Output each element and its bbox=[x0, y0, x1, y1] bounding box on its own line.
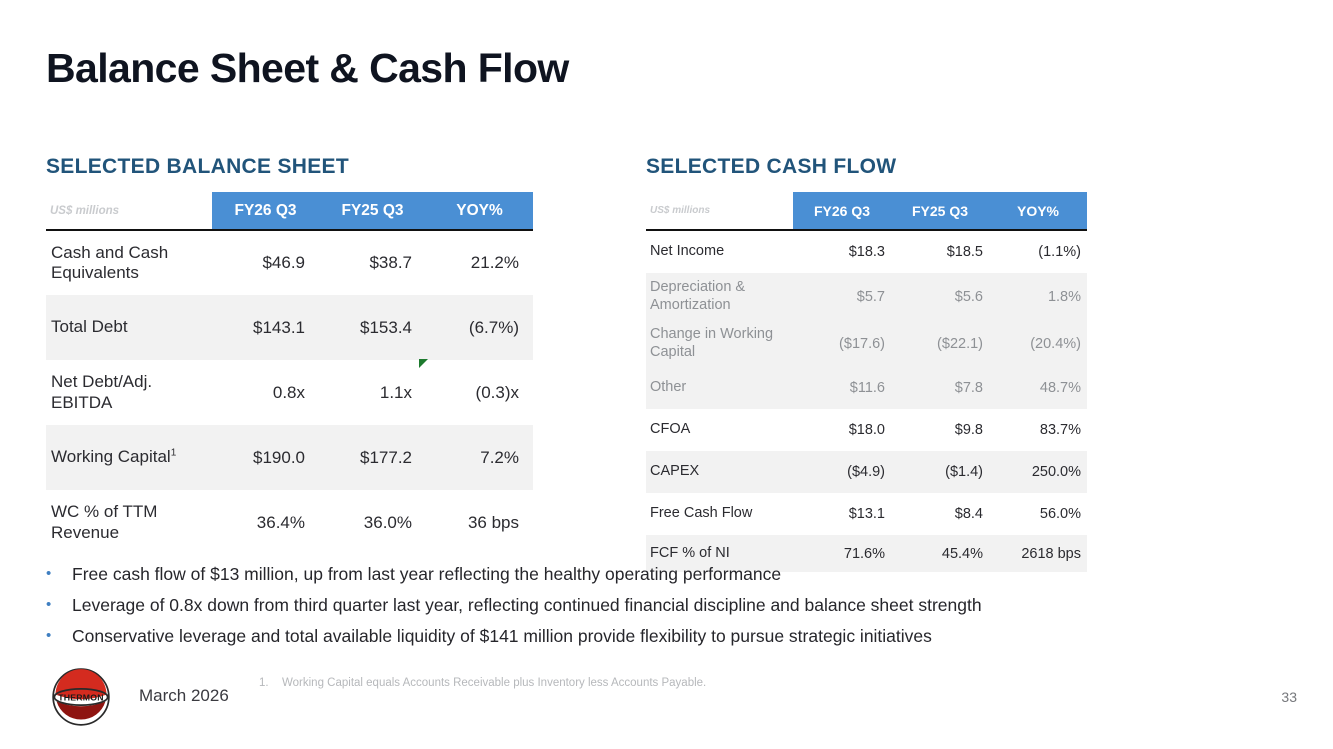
row-value-fy25q3: 1.1x bbox=[319, 360, 426, 425]
table-row: Total Debt $143.1 $153.4 (6.7%) bbox=[46, 295, 533, 360]
row-value-yoy: (0.3)x bbox=[426, 360, 533, 425]
footnote-marker: 1 bbox=[171, 448, 177, 459]
cash-flow-heading: SELECTED CASH FLOW bbox=[646, 155, 896, 179]
row-value-fy26q3: $11.6 bbox=[793, 367, 891, 409]
column-header-yoy: YOY% bbox=[989, 192, 1087, 230]
row-label: Net Debt/Adj. EBITDA bbox=[46, 360, 212, 425]
bullet-list: • Free cash flow of $13 million, up from… bbox=[44, 563, 1284, 656]
row-value-fy26q3: 36.4% bbox=[212, 490, 319, 555]
units-label: US$ millions bbox=[646, 192, 793, 230]
table-row: WC % of TTM Revenue 36.4% 36.0% 36 bps bbox=[46, 490, 533, 555]
row-value-fy26q3: $18.0 bbox=[793, 409, 891, 451]
bullet-text: Conservative leverage and total availabl… bbox=[72, 625, 932, 647]
row-value-fy25q3: ($1.4) bbox=[891, 451, 989, 493]
row-label: Working Capital1 bbox=[46, 425, 212, 490]
row-value-fy26q3: ($17.6) bbox=[793, 320, 891, 367]
balance-sheet-heading: SELECTED BALANCE SHEET bbox=[46, 155, 349, 179]
table-row: Working Capital1 $190.0 $177.2 7.2% bbox=[46, 425, 533, 490]
row-label: Free Cash Flow bbox=[646, 493, 793, 535]
row-value-fy25q3: ($22.1) bbox=[891, 320, 989, 367]
table-row: Depreciation & Amortization $5.7 $5.6 1.… bbox=[646, 273, 1087, 320]
row-value-yoy: 7.2% bbox=[426, 425, 533, 490]
list-item: • Free cash flow of $13 million, up from… bbox=[44, 563, 1284, 585]
row-value-yoy: 36 bps bbox=[426, 490, 533, 555]
footer-date: March 2026 bbox=[139, 686, 229, 706]
row-value-fy26q3: $190.0 bbox=[212, 425, 319, 490]
row-value-fy25q3: 36.0% bbox=[319, 490, 426, 555]
row-value-yoy: 21.2% bbox=[426, 230, 533, 295]
balance-sheet-table: US$ millions FY26 Q3 FY25 Q3 YOY% Cash a… bbox=[46, 192, 533, 555]
table-header-row: US$ millions FY26 Q3 FY25 Q3 YOY% bbox=[46, 192, 533, 230]
bullet-dot-icon: • bbox=[44, 594, 72, 616]
cash-flow-table: US$ millions FY26 Q3 FY25 Q3 YOY% Net In… bbox=[646, 192, 1087, 572]
page-number: 33 bbox=[1281, 689, 1297, 705]
row-value-yoy: 250.0% bbox=[989, 451, 1087, 493]
row-value-fy25q3: $153.4 bbox=[319, 295, 426, 360]
row-label: Depreciation & Amortization bbox=[646, 273, 793, 320]
bullet-text: Leverage of 0.8x down from third quarter… bbox=[72, 594, 982, 616]
bullet-dot-icon: • bbox=[44, 563, 72, 585]
row-value-yoy: 1.8% bbox=[989, 273, 1087, 320]
row-label: Change in Working Capital bbox=[646, 320, 793, 367]
footnote-number: 1. bbox=[259, 677, 282, 689]
table-row: Change in Working Capital ($17.6) ($22.1… bbox=[646, 320, 1087, 367]
row-value-yoy: 83.7% bbox=[989, 409, 1087, 451]
row-value-yoy: (6.7%) bbox=[426, 295, 533, 360]
row-value-fy25q3: $7.8 bbox=[891, 367, 989, 409]
row-value-fy26q3: $46.9 bbox=[212, 230, 319, 295]
thermon-wordmark: THERMON bbox=[58, 692, 104, 702]
footnote-text: Working Capital equals Accounts Receivab… bbox=[282, 677, 706, 689]
table-row: CAPEX ($4.9) ($1.4) 250.0% bbox=[646, 451, 1087, 493]
thermon-logo-icon: THERMON bbox=[52, 668, 110, 726]
row-value-fy25q3: $5.6 bbox=[891, 273, 989, 320]
row-value-fy26q3: $143.1 bbox=[212, 295, 319, 360]
row-value-yoy: (20.4%) bbox=[989, 320, 1087, 367]
column-header-fy26q3: FY26 Q3 bbox=[793, 192, 891, 230]
row-value-fy25q3: $9.8 bbox=[891, 409, 989, 451]
column-header-fy25q3: FY25 Q3 bbox=[319, 192, 426, 230]
row-label: Total Debt bbox=[46, 295, 212, 360]
column-header-fy26q3: FY26 Q3 bbox=[212, 192, 319, 230]
row-value-fy26q3: $18.3 bbox=[793, 230, 891, 273]
row-value-fy25q3: $177.2 bbox=[319, 425, 426, 490]
column-header-fy25q3: FY25 Q3 bbox=[891, 192, 989, 230]
table-row: Free Cash Flow $13.1 $8.4 56.0% bbox=[646, 493, 1087, 535]
row-value-fy25q3: $8.4 bbox=[891, 493, 989, 535]
row-label: CAPEX bbox=[646, 451, 793, 493]
table-row: Net Debt/Adj. EBITDA 0.8x 1.1x (0.3)x bbox=[46, 360, 533, 425]
row-value-fy25q3: $38.7 bbox=[319, 230, 426, 295]
row-label: Net Income bbox=[646, 230, 793, 273]
row-label: Other bbox=[646, 367, 793, 409]
row-label: Cash and Cash Equivalents bbox=[46, 230, 212, 295]
list-item: • Leverage of 0.8x down from third quart… bbox=[44, 594, 1284, 616]
row-label: WC % of TTM Revenue bbox=[46, 490, 212, 555]
table-row: Cash and Cash Equivalents $46.9 $38.7 21… bbox=[46, 230, 533, 295]
list-item: • Conservative leverage and total availa… bbox=[44, 625, 1284, 647]
table-row: Other $11.6 $7.8 48.7% bbox=[646, 367, 1087, 409]
row-value-fy26q3: 0.8x bbox=[212, 360, 319, 425]
row-label: CFOA bbox=[646, 409, 793, 451]
page-title: Balance Sheet & Cash Flow bbox=[46, 46, 569, 91]
thermon-logo: THERMON bbox=[52, 668, 110, 726]
row-label-text: Working Capital bbox=[51, 447, 171, 466]
bullet-text: Free cash flow of $13 million, up from l… bbox=[72, 563, 781, 585]
table-header-row: US$ millions FY26 Q3 FY25 Q3 YOY% bbox=[646, 192, 1087, 230]
table-row: CFOA $18.0 $9.8 83.7% bbox=[646, 409, 1087, 451]
row-value-yoy: 56.0% bbox=[989, 493, 1087, 535]
row-value-fy26q3: ($4.9) bbox=[793, 451, 891, 493]
units-label: US$ millions bbox=[46, 192, 212, 230]
table-row: Net Income $18.3 $18.5 (1.1%) bbox=[646, 230, 1087, 273]
row-value-yoy: 48.7% bbox=[989, 367, 1087, 409]
row-value-fy26q3: $5.7 bbox=[793, 273, 891, 320]
column-header-yoy: YOY% bbox=[426, 192, 533, 230]
bullet-dot-icon: • bbox=[44, 625, 72, 647]
row-value-fy26q3: $13.1 bbox=[793, 493, 891, 535]
row-value-fy25q3: $18.5 bbox=[891, 230, 989, 273]
row-value-yoy: (1.1%) bbox=[989, 230, 1087, 273]
footnote: 1. Working Capital equals Accounts Recei… bbox=[259, 677, 706, 689]
